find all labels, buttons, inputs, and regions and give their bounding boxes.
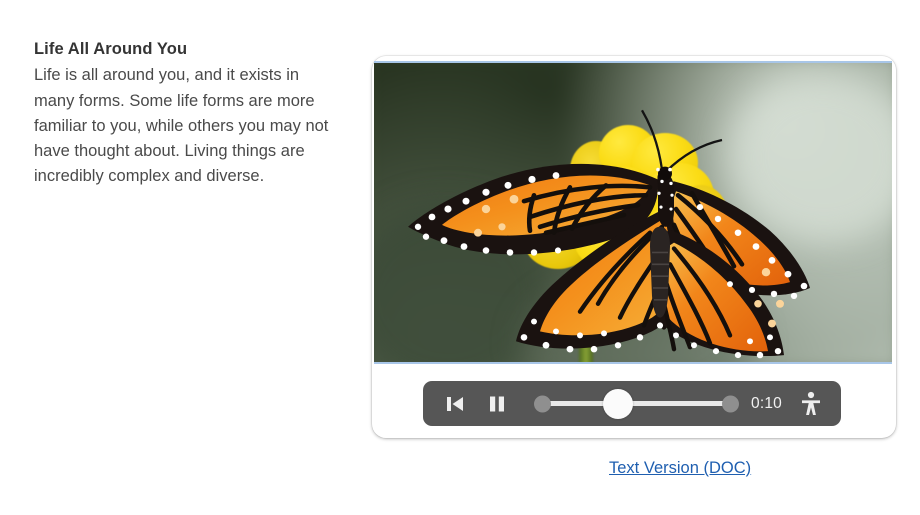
video-viewport[interactable] <box>374 61 892 364</box>
accessibility-person-icon[interactable] <box>796 388 826 420</box>
seek-track <box>542 401 731 406</box>
pause-icon[interactable] <box>480 387 514 421</box>
page-title: Life All Around You <box>34 38 334 61</box>
seek-end-dot <box>722 395 739 412</box>
video-control-bar: 0:10 <box>423 381 841 426</box>
text-version-link[interactable]: Text Version (DOC) <box>609 459 751 478</box>
seek-slider[interactable] <box>534 387 739 421</box>
lesson-page: Life All Around You Life is all around y… <box>0 0 920 515</box>
lesson-body-text: Life is all around you, and it exists in… <box>34 63 334 189</box>
seek-start-dot <box>534 395 551 412</box>
time-display: 0:10 <box>751 395 782 413</box>
lesson-text-column: Life All Around You Life is all around y… <box>34 38 334 190</box>
seek-thumb[interactable] <box>603 389 633 419</box>
skip-to-start-icon[interactable] <box>438 387 472 421</box>
monarch-butterfly <box>374 63 892 362</box>
